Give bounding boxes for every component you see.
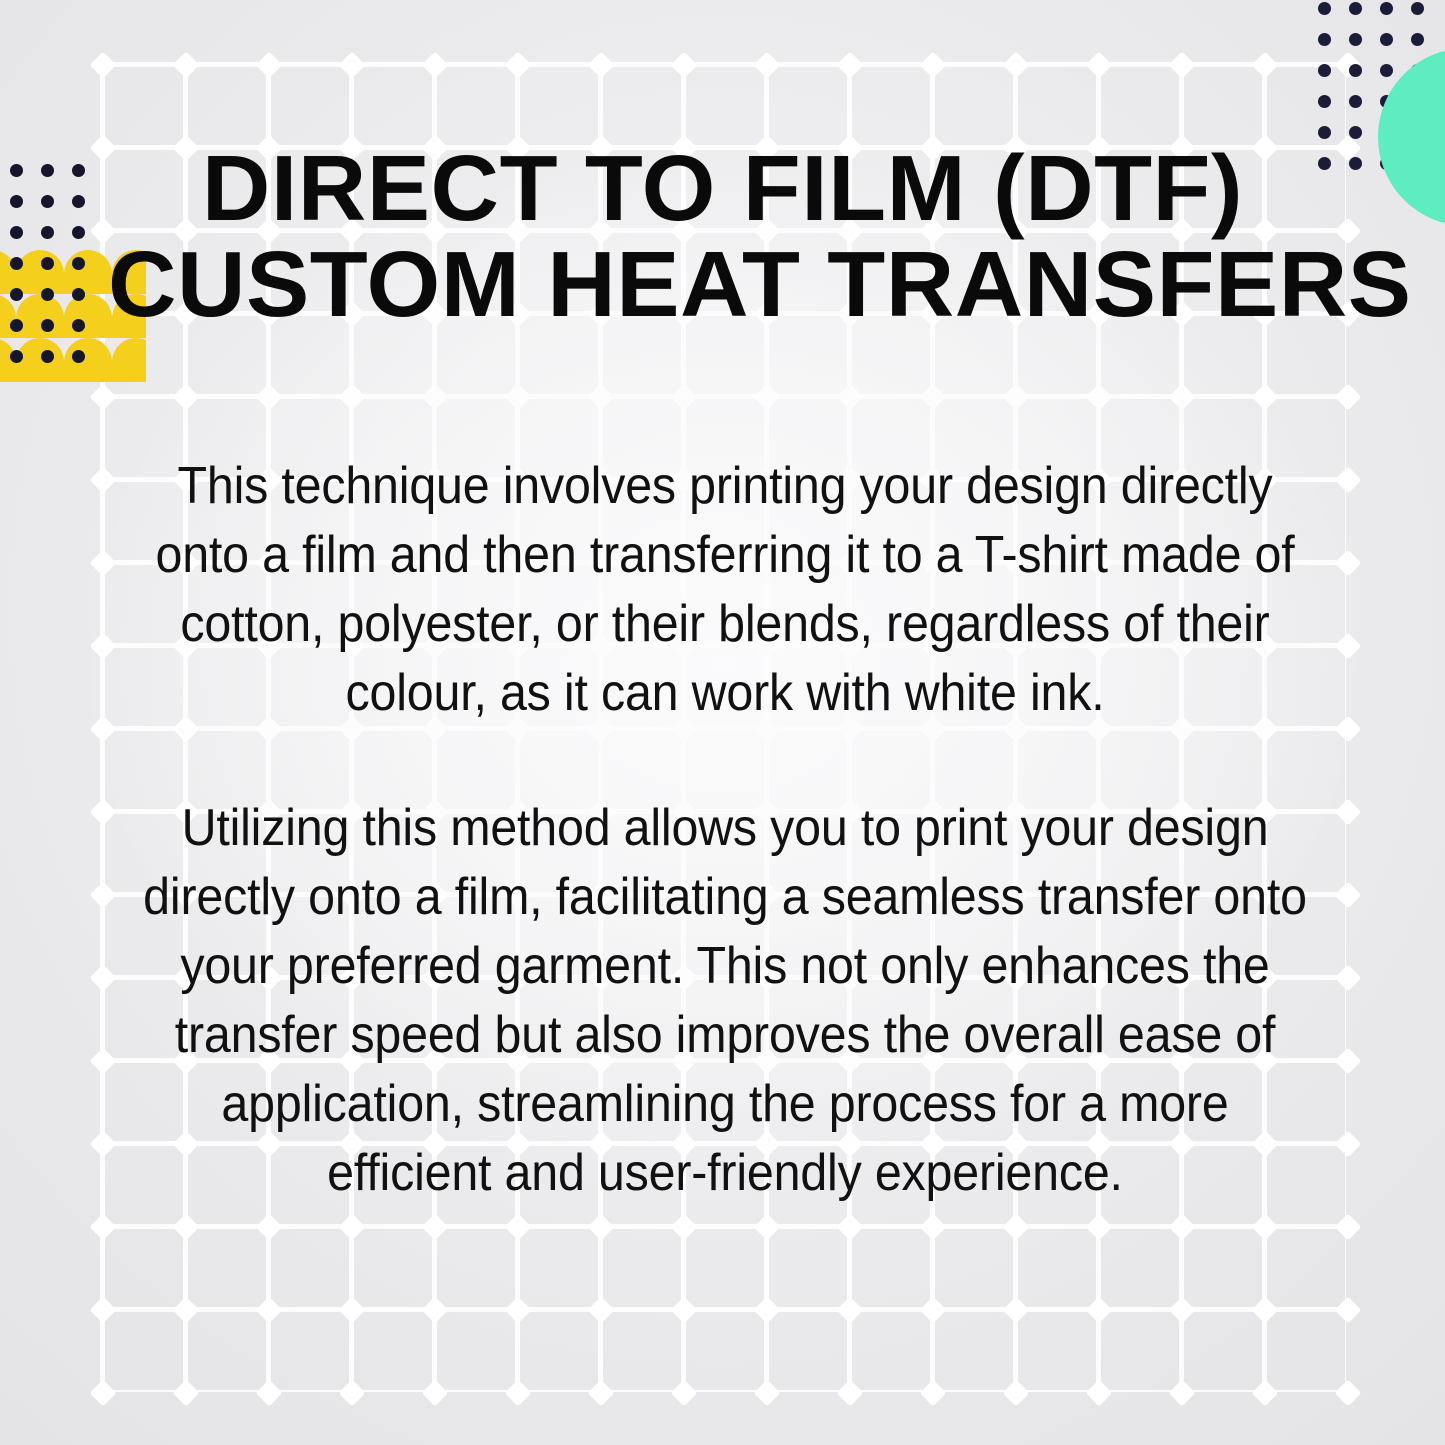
page-title-line-1: DIRECT TO FILM (DTF)	[108, 140, 1337, 236]
body-paragraph-2: Utilizing this method allows you to prin…	[139, 794, 1311, 1208]
page-title: DIRECT TO FILM (DTF) CUSTOM HEAT TRANSFE…	[108, 140, 1337, 332]
page-title-line-2: CUSTOM HEAT TRANSFERS	[108, 236, 1337, 332]
body-paragraph-1: This technique involves printing your de…	[139, 452, 1311, 728]
body-copy: This technique involves printing your de…	[95, 452, 1355, 1208]
poster-content: DIRECT TO FILM (DTF) CUSTOM HEAT TRANSFE…	[0, 0, 1445, 1445]
poster-canvas: DIRECT TO FILM (DTF) CUSTOM HEAT TRANSFE…	[0, 0, 1445, 1445]
